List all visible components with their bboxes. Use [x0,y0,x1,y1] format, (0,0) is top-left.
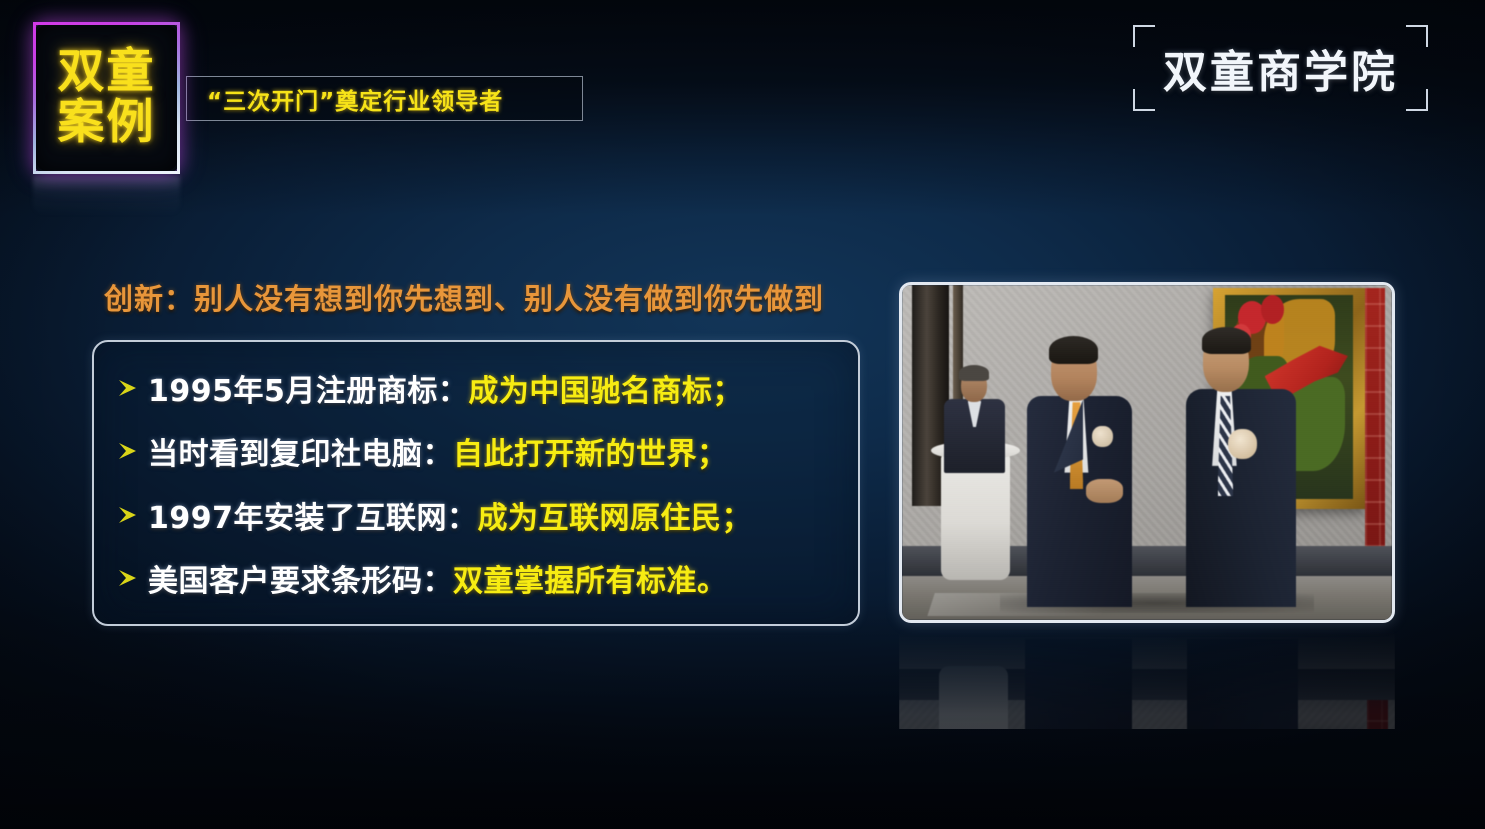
bullet-value: 成为中国驰名商标； [468,366,743,410]
section-heading: 创新：别人没有想到你先想到、别人没有做到你先做到 [104,276,824,318]
event-photo-reflection [899,625,1395,729]
event-photo-scene [902,285,1392,620]
bullet-row: 1995年5月注册商标： 成为中国驰名商标； [106,366,848,410]
bullet-label: 1995年5月注册商标： [148,366,468,410]
bullet-label: 1997年安装了互联网： [148,493,478,537]
bullet-row: 美国客户要求条形码： 双童掌握所有标准。 [106,556,848,600]
bracket-top-left-icon [1133,25,1155,47]
bracket-bottom-left-icon [1133,89,1155,111]
badge-line-2: 案例 [58,98,156,149]
bracket-bottom-right-icon [1406,89,1428,111]
badge-reflection [33,176,180,216]
slide-root: 双童 案例 “三次开门”奠定行业领导者 双童商学院 创新：别人没有想到你先想到、… [0,0,1485,829]
arrow-right-icon [114,375,140,401]
bullet-value: 双童掌握所有标准。 [453,556,728,600]
bullet-row: 当时看到复印社电脑： 自此打开新的世界； [106,429,848,473]
brand-logo: 双童商学院 [1133,25,1428,111]
arrow-right-icon [114,438,140,464]
bullet-panel: 1995年5月注册商标： 成为中国驰名商标； 当时看到复印社电脑： 自此打开新的… [92,340,860,626]
subtitle-bar: “三次开门”奠定行业领导者 [186,76,583,121]
brand-logo-text: 双童商学院 [1163,36,1398,100]
arrow-right-icon [114,502,140,528]
case-badge: 双童 案例 [33,22,180,174]
subtitle-text: “三次开门”奠定行业领导者 [207,82,503,116]
bullet-value: 成为互联网原住民； [478,493,753,537]
arrow-right-icon [114,565,140,591]
bullet-label: 美国客户要求条形码： [148,556,453,600]
badge-line-1: 双童 [58,47,156,98]
event-photo [899,282,1395,623]
bracket-top-right-icon [1406,25,1428,47]
bullet-row: 1997年安装了互联网： 成为互联网原住民； [106,493,848,537]
bullet-value: 自此打开新的世界； [453,429,728,473]
bullet-label: 当时看到复印社电脑： [148,429,453,473]
